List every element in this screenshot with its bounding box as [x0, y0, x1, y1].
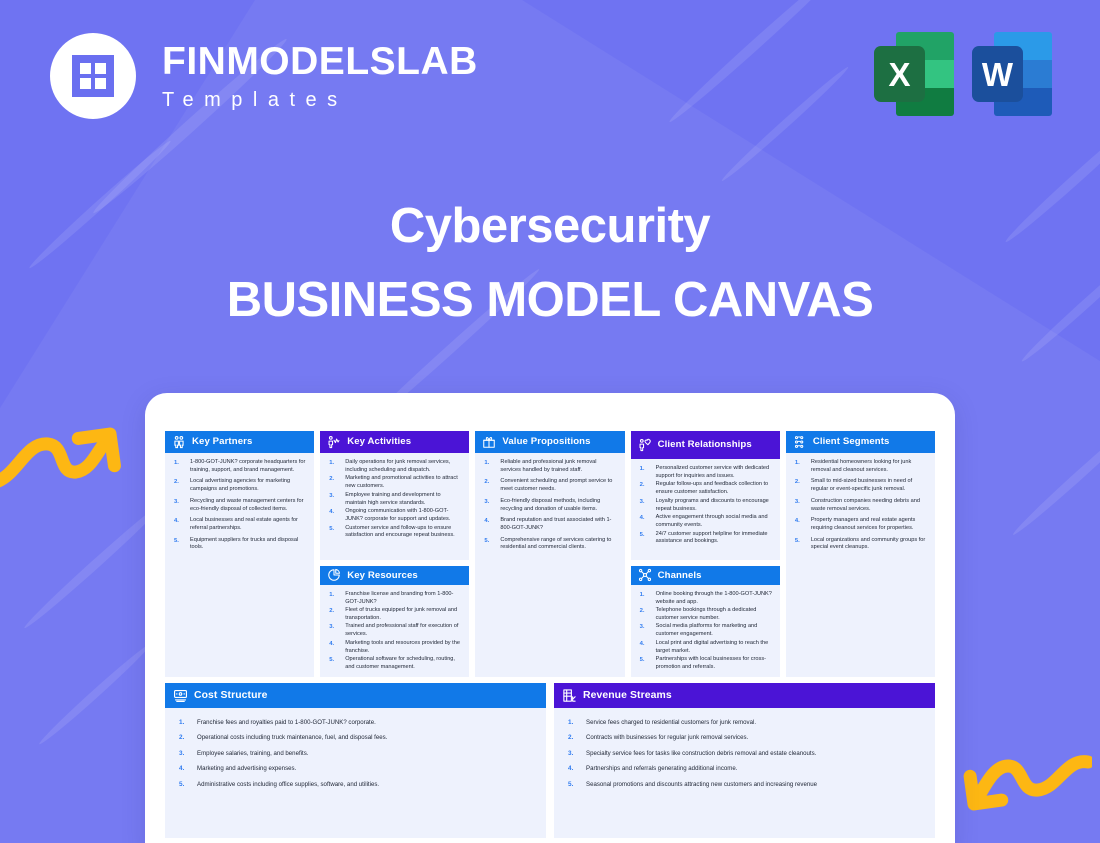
- page-header: FINMODELSLAB Templates X W: [0, 0, 1100, 150]
- block-title: Key Partners: [192, 436, 252, 447]
- block-client-relationships[interactable]: Client Relationships Personalized custom…: [631, 431, 780, 560]
- block-title: Client Segments: [813, 436, 890, 447]
- block-item-list: Daily operations for junk removal servic…: [325, 459, 462, 540]
- canvas-top-row: Key Partners 1-800-GOT-JUNK? corporate h…: [165, 431, 935, 677]
- list-item: Equipment suppliers for trucks and dispo…: [170, 537, 307, 553]
- list-item: Local advertising agencies for marketing…: [170, 478, 307, 494]
- block-value-propositions[interactable]: Value Propositions Reliable and professi…: [475, 431, 624, 677]
- format-icons: X W: [874, 32, 1052, 116]
- list-item: 24/7 customer support helpline for immed…: [636, 531, 773, 547]
- list-item: Residential homeowners looking for junk …: [791, 459, 928, 475]
- brand-name: FINMODELSLAB: [162, 42, 478, 81]
- list-item: Construction companies needing debris an…: [791, 498, 928, 514]
- list-item: Small to mid-sized businesses in need of…: [791, 478, 928, 494]
- excel-icon: X: [874, 32, 954, 116]
- two-people-icon: [172, 435, 186, 449]
- column-value-propositions: Value Propositions Reliable and professi…: [475, 431, 624, 677]
- list-item: Telephone bookings through a dedicated c…: [636, 607, 773, 623]
- list-item: Employee salaries, training, and benefit…: [173, 750, 536, 758]
- list-item: Comprehensive range of services catering…: [480, 537, 617, 553]
- squiggly-arrow-down-left-icon: [962, 748, 1092, 828]
- list-item: Convenient scheduling and prompt service…: [480, 478, 617, 494]
- block-key-partners[interactable]: Key Partners 1-800-GOT-JUNK? corporate h…: [165, 431, 314, 677]
- list-item: Customer service and follow-ups to ensur…: [325, 525, 462, 541]
- block-title: Channels: [658, 570, 702, 581]
- list-item: Service fees charged to residential cust…: [562, 719, 925, 727]
- column-key-activities-resources: Key Activities Daily operations for junk…: [320, 431, 469, 677]
- list-item: Operational costs including truck mainte…: [173, 734, 536, 742]
- list-item: Contracts with businesses for regular ju…: [562, 734, 925, 742]
- list-item: Trained and professional staff for execu…: [325, 623, 462, 639]
- block-item-list: Service fees charged to residential cust…: [562, 719, 925, 789]
- block-item-list: Franchise fees and royalties paid to 1-8…: [173, 719, 536, 789]
- list-item: Loyalty programs and discounts to encour…: [636, 498, 773, 514]
- block-title: Cost Structure: [194, 690, 268, 702]
- list-item: Franchise license and branding from 1-80…: [325, 591, 462, 607]
- list-item: Eco-friendly disposal methods, including…: [480, 498, 617, 514]
- word-icon: W: [972, 32, 1052, 116]
- list-item: Employee training and development to mai…: [325, 492, 462, 508]
- list-item: Property managers and real estate agents…: [791, 517, 928, 533]
- list-item: Marketing and advertising expenses.: [173, 765, 536, 773]
- excel-badge: X: [874, 46, 925, 102]
- list-item: Recycling and waste management centers f…: [170, 498, 307, 514]
- block-item-list: Franchise license and branding from 1-80…: [325, 591, 462, 672]
- list-item: Daily operations for junk removal servic…: [325, 459, 462, 475]
- block-title: Client Relationships: [658, 439, 752, 450]
- business-model-canvas-sheet: Key Partners 1-800-GOT-JUNK? corporate h…: [145, 393, 955, 843]
- list-item: Operational software for scheduling, rou…: [325, 656, 462, 672]
- word-letter: W: [982, 58, 1013, 91]
- block-item-list: Online booking through the 1-800-GOT-JUN…: [636, 591, 773, 672]
- list-item: Online booking through the 1-800-GOT-JUN…: [636, 591, 773, 607]
- list-item: Marketing tools and resources provided b…: [325, 640, 462, 656]
- block-item-list: Residential homeowners looking for junk …: [791, 459, 928, 552]
- block-title: Key Resources: [347, 570, 418, 581]
- block-item-list: Reliable and professional junk removal s…: [480, 459, 617, 552]
- network-nodes-icon: [638, 568, 652, 582]
- list-item: Local print and digital advertising to r…: [636, 640, 773, 656]
- block-item-list: Personalized customer service with dedic…: [636, 465, 773, 546]
- building-arrow-icon: [562, 688, 577, 703]
- list-item: Fleet of trucks equipped for junk remova…: [325, 607, 462, 623]
- list-item: 1-800-GOT-JUNK? corporate headquarters f…: [170, 459, 307, 475]
- list-item: Partnerships with local businesses for c…: [636, 656, 773, 672]
- list-item: Administrative costs including office su…: [173, 781, 536, 789]
- list-item: Active engagement through social media a…: [636, 514, 773, 530]
- list-item: Partnerships and referrals generating ad…: [562, 765, 925, 773]
- logo-circle: [50, 33, 136, 119]
- pie-chart-icon: [327, 568, 341, 582]
- person-heart-icon: [638, 438, 652, 452]
- grid-squares-icon: [72, 55, 114, 97]
- block-cost-structure[interactable]: Cost Structure Franchise fees and royalt…: [165, 683, 546, 838]
- list-item: Marketing and promotional activities to …: [325, 475, 462, 491]
- list-item: Social media platforms for marketing and…: [636, 623, 773, 639]
- block-client-segments[interactable]: Client Segments Residential homeowners l…: [786, 431, 935, 677]
- block-title: Key Activities: [347, 436, 411, 447]
- canvas-bottom-row: Cost Structure Franchise fees and royalt…: [165, 683, 935, 838]
- list-item: Local businesses and real estate agents …: [170, 517, 307, 533]
- word-badge: W: [972, 46, 1023, 102]
- block-key-activities[interactable]: Key Activities Daily operations for junk…: [320, 431, 469, 560]
- list-item: Seasonal promotions and discounts attrac…: [562, 781, 925, 789]
- brand-logo: FINMODELSLAB Templates: [50, 33, 478, 119]
- excel-letter: X: [888, 58, 910, 91]
- page-subtitle: BUSINESS MODEL CANVAS: [0, 272, 1100, 328]
- list-item: Regular follow-ups and feedback collecti…: [636, 481, 773, 497]
- list-item: Specialty service fees for tasks like co…: [562, 750, 925, 758]
- list-item: Reliable and professional junk removal s…: [480, 459, 617, 475]
- block-item-list: 1-800-GOT-JUNK? corporate headquarters f…: [170, 459, 307, 552]
- money-screen-icon: [173, 688, 188, 703]
- list-item: Local organizations and community groups…: [791, 537, 928, 553]
- page-title: Cybersecurity: [0, 198, 1100, 254]
- list-item: Franchise fees and royalties paid to 1-8…: [173, 719, 536, 727]
- brand-subtitle: Templates: [162, 90, 478, 110]
- list-item: Ongoing communication with 1-800-GOT-JUN…: [325, 508, 462, 524]
- block-key-resources[interactable]: Key Resources Franchise license and bran…: [320, 566, 469, 677]
- person-activity-icon: [327, 435, 341, 449]
- block-channels[interactable]: Channels Online booking through the 1-80…: [631, 566, 780, 677]
- squiggly-arrow-up-right-icon: [0, 412, 122, 492]
- list-item: Brand reputation and trust associated wi…: [480, 517, 617, 533]
- block-revenue-streams[interactable]: Revenue Streams Service fees charged to …: [554, 683, 935, 838]
- gift-icon: [482, 435, 496, 449]
- people-group-icon: [793, 435, 807, 449]
- list-item: Personalized customer service with dedic…: [636, 465, 773, 481]
- block-title: Value Propositions: [502, 436, 590, 447]
- column-key-partners: Key Partners 1-800-GOT-JUNK? corporate h…: [165, 431, 314, 677]
- column-client-relationships-channels: Client Relationships Personalized custom…: [631, 431, 780, 677]
- block-title: Revenue Streams: [583, 690, 672, 702]
- column-client-segments: Client Segments Residential homeowners l…: [786, 431, 935, 677]
